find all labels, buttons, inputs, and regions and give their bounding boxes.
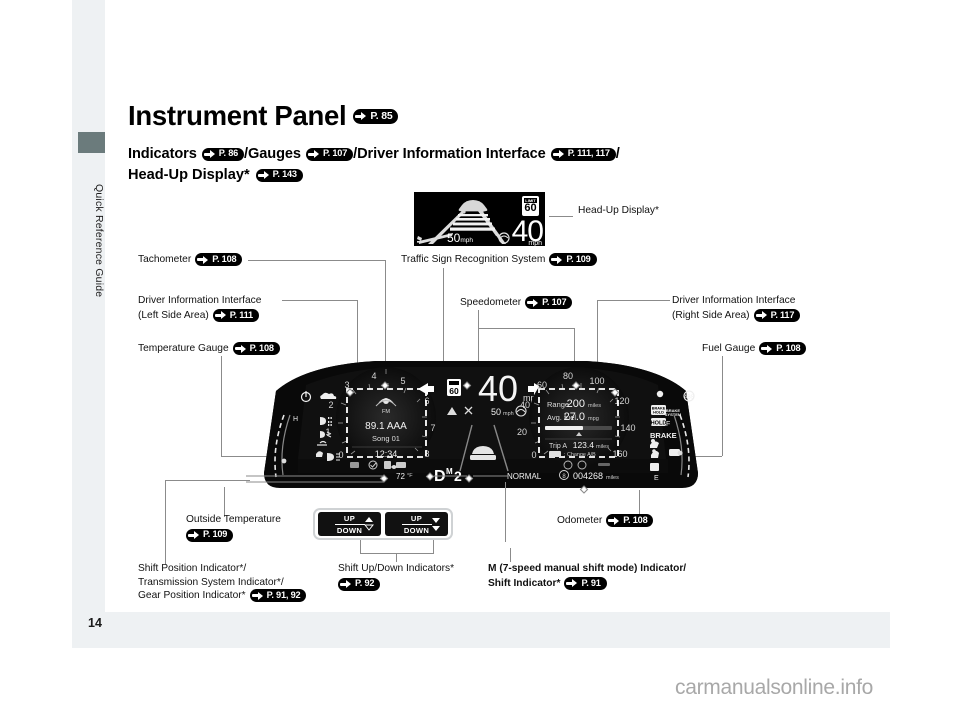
svg-text:140: 140	[620, 423, 635, 433]
hud-acc-speed: 50mph	[447, 231, 473, 245]
leader-line-fuel-gauge-v	[722, 356, 723, 456]
arrow-right-icon	[553, 150, 566, 159]
hud-speed-limit-value: 60	[524, 203, 536, 214]
shift-down-arrow-icon	[431, 516, 441, 532]
page-ref-odometer[interactable]: P. 108	[606, 514, 653, 527]
arrow-right-icon	[566, 579, 579, 588]
page-subtitle-line-1: Indicators P. 86 / Gauges P. 107 / Drive…	[128, 146, 620, 162]
arrow-right-icon	[756, 311, 769, 320]
shift-paddle-right: UP DOWN	[385, 512, 448, 536]
leader-line-dii-right-h	[597, 300, 670, 301]
site-watermark: carmanualsonline.info	[675, 676, 873, 700]
page-ref-shift-updown[interactable]: P. 92	[338, 578, 380, 591]
temp-gauge-hot-label: H	[293, 416, 298, 423]
arrow-right-icon	[204, 150, 217, 159]
page-ref-head-up-display[interactable]: P. 143	[256, 169, 303, 182]
left-display-track: Song 01	[372, 434, 400, 443]
callout-odometer: Odometer P. 108	[557, 514, 653, 528]
callout-temperature-gauge: Temperature Gauge P. 108	[138, 342, 280, 356]
page-ref-m-mode[interactable]: P. 91	[564, 577, 606, 590]
section-tab-marker	[78, 132, 105, 153]
svg-text:20: 20	[517, 427, 527, 437]
svg-text:SYSTEM: SYSTEM	[665, 412, 682, 417]
right-display-trip-label: Trip A	[549, 443, 567, 450]
subtitle-indicators-text: Indicators	[128, 146, 197, 162]
odometer-unit: miles	[606, 475, 619, 481]
svg-text:2: 2	[328, 400, 333, 410]
callout-traffic-sign: Traffic Sign Recognition System P. 109	[401, 253, 597, 267]
page-title-text: Instrument Panel	[128, 100, 346, 132]
callout-driver-info-left: Driver Information Interface (Left Side …	[138, 294, 261, 322]
page-ref-driver-info-right[interactable]: P. 117	[754, 309, 801, 322]
subtitle-gauges-text: Gauges	[248, 146, 301, 162]
page-ref-temperature-gauge[interactable]: P. 108	[233, 342, 280, 355]
page-ref-fuel-gauge[interactable]: P. 108	[759, 342, 806, 355]
leader-line-paddles-down	[396, 553, 397, 562]
svg-text:4: 4	[371, 371, 376, 381]
fuel-gauge-empty-label: E	[654, 475, 659, 482]
svg-text:0: 0	[531, 450, 536, 460]
manual-page: Quick Reference Guide Instrument Panel P…	[0, 0, 960, 722]
arrow-right-icon	[308, 150, 321, 159]
shift-paddle-left-text: UP DOWN	[335, 514, 365, 535]
arrow-right-icon	[551, 255, 564, 264]
svg-text:80: 80	[563, 371, 573, 381]
temp-gauge-cold-marker	[282, 459, 287, 464]
subtitle-separator-3: /	[616, 146, 620, 162]
instrument-cluster-image: 0 1 2 3 4 5 6 7 8	[246, 355, 716, 497]
arrow-right-icon	[761, 344, 774, 353]
page-title: Instrument Panel P. 85	[128, 100, 398, 132]
arrow-right-icon	[197, 255, 210, 264]
page-ref-gauges[interactable]: P. 107	[306, 148, 353, 161]
shift-up-arrow-icon	[364, 516, 374, 532]
page-number: 14	[88, 616, 102, 630]
outside-temperature-unit: °F	[407, 473, 413, 479]
svg-text:ABS: ABS	[684, 395, 695, 401]
arrow-right-icon	[188, 531, 201, 540]
leader-line-mmode-v	[510, 548, 511, 562]
callout-driver-info-right: Driver Information Interface (Right Side…	[672, 294, 800, 322]
callout-shift-updown: Shift Up/Down Indicators* P. 92	[338, 562, 454, 591]
right-display-change-hint: : Change A/B	[564, 452, 596, 458]
leader-line-paddles-h	[360, 553, 434, 554]
arrow-right-icon	[340, 580, 353, 589]
leader-line-odometer-v	[639, 490, 640, 515]
page-ref-indicators[interactable]: P. 86	[202, 148, 244, 161]
leader-line-dii-left-h	[282, 300, 357, 301]
page-ref-tachometer[interactable]: P. 108	[195, 253, 242, 266]
left-display-station: 89.1 AAA	[365, 421, 407, 432]
page-ref-outside-temperature[interactable]: P. 109	[186, 529, 233, 542]
arrow-right-icon	[258, 171, 271, 180]
right-display-range-unit: miles	[588, 403, 601, 409]
arrow-right-icon	[355, 112, 368, 121]
hud-speed-limit-sign: LIMIT 60	[522, 196, 539, 216]
page-ref-driver-information-interface[interactable]: P. 111, 117	[551, 148, 616, 161]
arrow-right-icon	[527, 298, 540, 307]
svg-text:HOLD: HOLD	[651, 421, 667, 427]
left-display-clock: 12:34	[375, 449, 398, 459]
leader-line-normal-v	[505, 482, 506, 542]
odometer-value: 004268	[573, 471, 603, 481]
brake-indicator-label: BRAKE	[650, 431, 677, 440]
svg-text:60: 60	[449, 386, 459, 396]
callout-head-up-display: Head-Up Display*	[578, 204, 659, 218]
left-display-source: FM	[382, 409, 390, 415]
svg-text:0: 0	[338, 450, 343, 460]
svg-text:5: 5	[400, 376, 405, 386]
cluster-acc-speed-unit: mph	[503, 411, 514, 417]
right-display-trip-unit: miles	[596, 444, 609, 450]
outside-temperature-value: 72	[396, 472, 405, 481]
svg-text:100: 100	[589, 376, 604, 386]
svg-text:120: 120	[614, 396, 629, 406]
page-ref-driver-info-left[interactable]: P. 111	[213, 309, 259, 322]
arrow-right-icon	[215, 311, 228, 320]
page-ref-speedometer[interactable]: P. 107	[525, 296, 572, 309]
fuel-gauge-full-label: F	[666, 421, 670, 428]
leader-line-temp-gauge-v	[221, 356, 222, 456]
right-display-trip-value: 123.4	[573, 440, 595, 450]
cluster-acc-speed: 50	[491, 407, 501, 417]
hud-speed-unit: mph	[528, 240, 542, 246]
callout-speedometer: Speedometer P. 107	[460, 296, 572, 310]
right-display-avgfuel-unit: mpg	[588, 416, 599, 422]
callout-outside-temperature: Outside Temperature P. 109	[186, 513, 281, 542]
subtitle-hud-text: Head-Up Display*	[128, 167, 250, 183]
right-display-avgfuel-value: 27.0	[564, 411, 585, 423]
cluster-digital-speed: 40	[478, 368, 518, 409]
leader-line-speedometer-h	[478, 328, 574, 329]
page-ref-shift-position[interactable]: P. 91, 92	[250, 589, 307, 602]
svg-text:40: 40	[520, 400, 530, 410]
fuel-gauge-needle	[678, 451, 683, 456]
leader-line-shift-position-h	[165, 480, 250, 481]
leader-line-hud	[549, 216, 573, 217]
leader-line-paddle-left	[360, 540, 361, 553]
page-ref-traffic-sign[interactable]: P. 109	[549, 253, 596, 266]
subtitle-dii-text: Driver Information Interface	[357, 146, 546, 162]
section-tab-label: Quick Reference Guide	[78, 155, 105, 323]
m-mode-indicator: M	[446, 467, 453, 476]
page-ref-title[interactable]: P. 85	[353, 109, 398, 124]
head-up-display-image: LIMIT 60 50mph 40 mph	[414, 192, 545, 246]
shift-paddle-left: UP DOWN	[318, 512, 381, 536]
arrow-right-icon	[608, 516, 621, 525]
page-subtitle-line-2: Head-Up Display* P. 143	[128, 167, 303, 183]
callout-m-mode: M (7-speed manual shift mode) Indicator/…	[488, 562, 686, 590]
right-display-range-value: 200	[567, 398, 585, 410]
cluster-graphic: 0 1 2 3 4 5 6 7 8	[246, 355, 716, 497]
arrow-right-icon	[252, 591, 265, 600]
shift-paddles-graphic: UP DOWN UP DOWN	[313, 508, 453, 540]
callout-shift-position: Shift Position Indicator*/ Transmission …	[138, 562, 306, 603]
arrow-right-icon	[235, 344, 248, 353]
svg-text:7: 7	[430, 423, 435, 433]
shift-paddle-right-text: UP DOWN	[402, 514, 432, 535]
callout-fuel-gauge: Fuel Gauge P. 108	[702, 342, 806, 356]
callout-tachometer: Tachometer P. 108	[138, 253, 242, 267]
leader-line-paddle-right	[433, 540, 434, 553]
leader-line-shift-position-v	[165, 480, 166, 564]
leader-line-tachometer-h	[248, 260, 385, 261]
drive-mode-indicator: NORMAL	[507, 472, 542, 481]
svg-text:HOLD: HOLD	[653, 411, 664, 415]
